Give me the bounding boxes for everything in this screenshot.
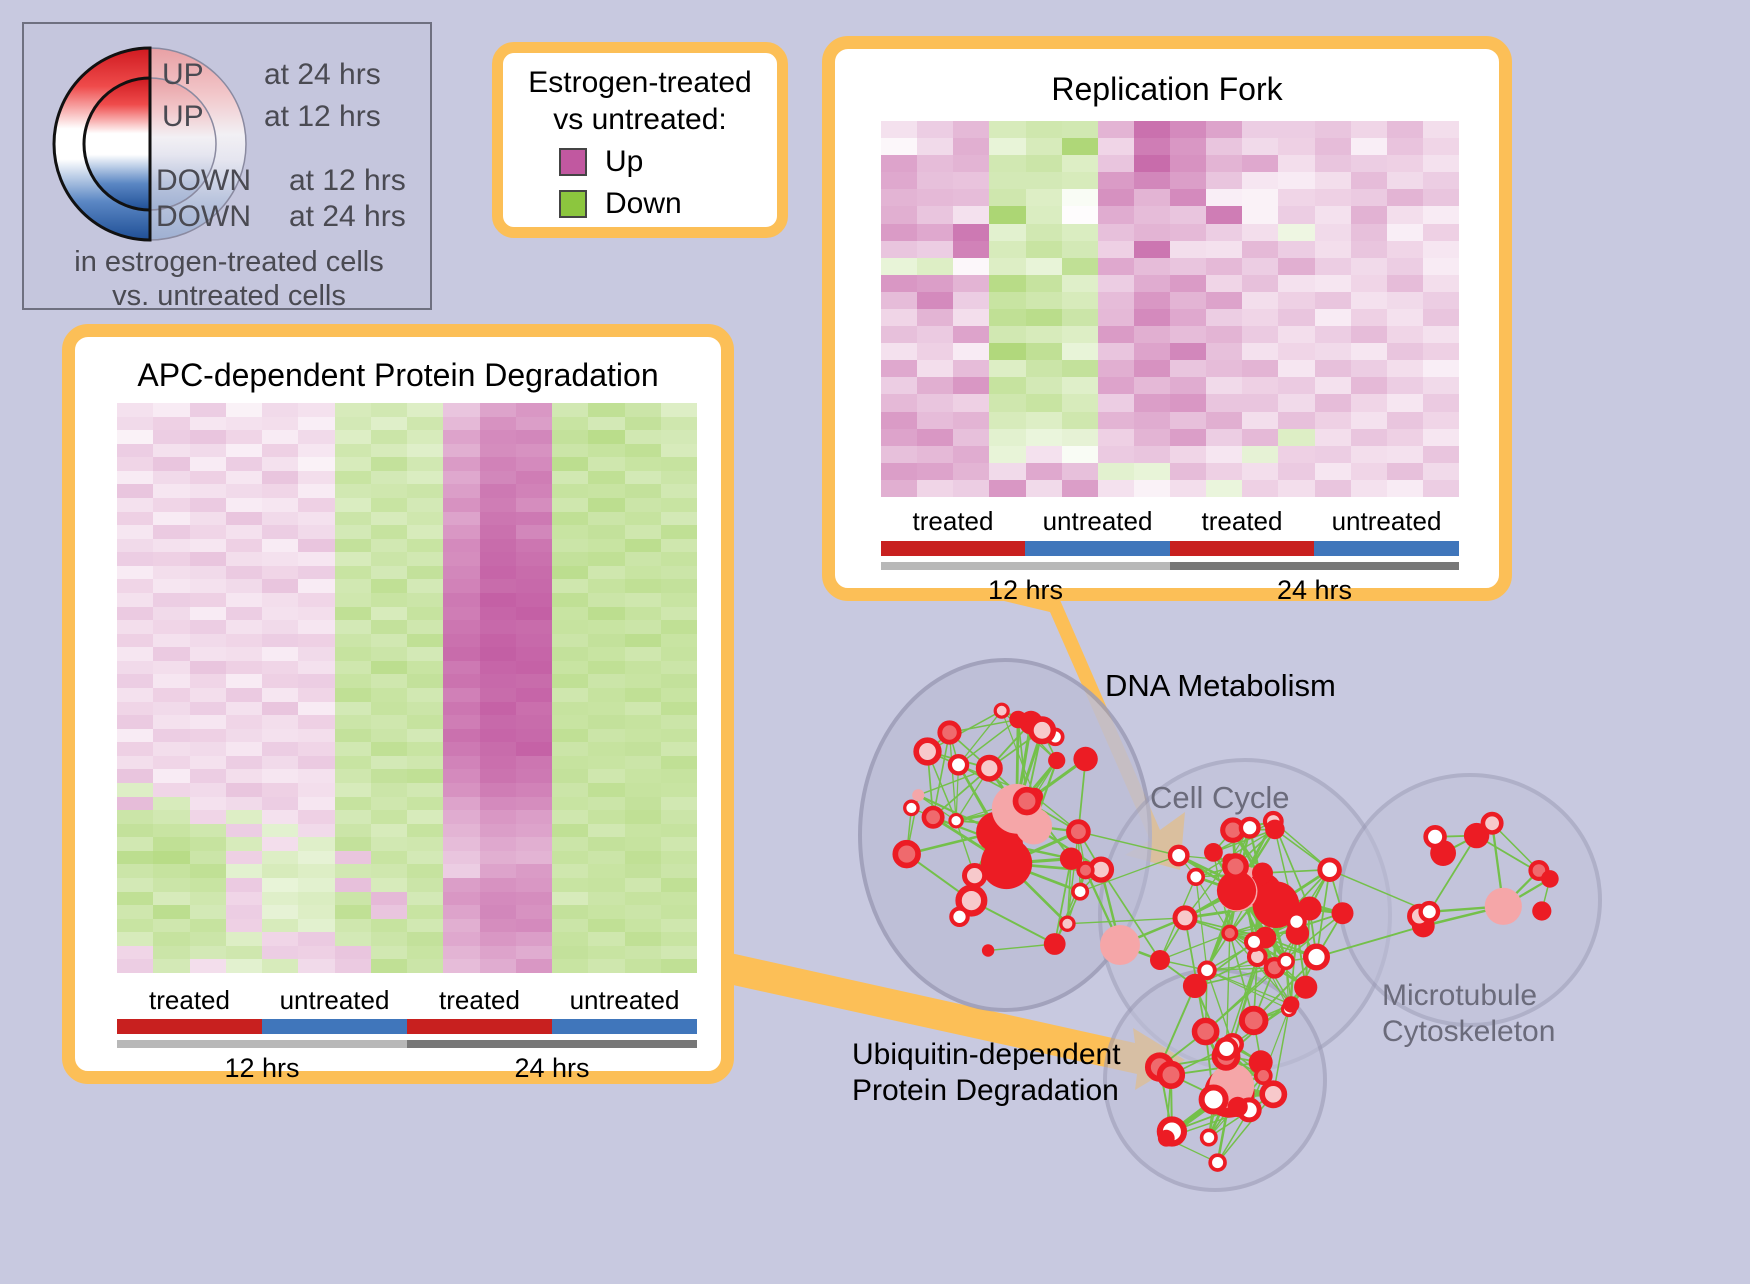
rf-group-bar-3 xyxy=(1314,541,1459,556)
apc-group-bar-1 xyxy=(262,1019,407,1034)
apc-group-bar-2 xyxy=(407,1019,552,1034)
panel-apc-degradation: APC-dependent Protein Degradation treate… xyxy=(62,324,734,1084)
up-color-swatch xyxy=(559,148,587,176)
ring-row-2-time: at 12 hrs xyxy=(289,164,406,198)
rf-group-label-0: treated xyxy=(881,506,1025,537)
rf-group-label-2: treated xyxy=(1170,506,1314,537)
rf-group-bar-0 xyxy=(881,541,1025,556)
ring-row-2-direction: DOWN xyxy=(156,164,251,198)
updown-legend-title-line2: vs untreated: xyxy=(503,102,777,139)
apc-group-label-0: treated xyxy=(117,985,262,1016)
ring-legend-footer-line2: vs. untreated cells xyxy=(24,280,434,313)
apc-timepoint-label-12hrs: 12 hrs xyxy=(117,1053,407,1084)
legend-item-down: Down xyxy=(559,187,682,221)
ring-row-3-direction: DOWN xyxy=(156,200,251,234)
ring-row-1-direction: UP xyxy=(162,100,204,134)
rf-timepoint-label-12hrs: 12 hrs xyxy=(881,575,1170,606)
rf-timepoint-bar-12hrs xyxy=(881,562,1170,570)
ring-row-0-direction: UP xyxy=(162,58,204,92)
rf-group-bar-1 xyxy=(1025,541,1170,556)
ring-row-0-time: at 24 hrs xyxy=(264,58,381,92)
panel-apc-title: APC-dependent Protein Degradation xyxy=(75,357,721,394)
cluster-label-ubiquitin-degradation: Ubiquitin-dependent Protein Degradation xyxy=(852,1037,1121,1109)
cluster-label-microtubule-cytoskeleton: Microtubule Cytoskeleton xyxy=(1382,978,1555,1050)
apc-group-label-2: treated xyxy=(407,985,552,1016)
apc-timepoint-bar-12hrs xyxy=(117,1040,407,1048)
network-svg xyxy=(790,610,1750,1279)
updown-legend-card: Estrogen-treated vs untreated: Up Down xyxy=(492,42,788,238)
cluster-label-dna-metabolism: DNA Metabolism xyxy=(1105,668,1336,704)
ring-row-3-time: at 24 hrs xyxy=(289,200,406,234)
rf-group-label-3: untreated xyxy=(1314,506,1459,537)
figure-canvas: UP at 24 hrs UP at 12 hrs DOWN at 12 hrs… xyxy=(0,0,1750,1279)
pathway-network-diagram: DNA Metabolism Cell Cycle Microtubule Cy… xyxy=(790,610,1750,1279)
heatmap-apc-degradation xyxy=(117,403,697,973)
ring-legend-box: UP at 24 hrs UP at 12 hrs DOWN at 12 hrs… xyxy=(22,22,432,310)
legend-item-up: Up xyxy=(559,145,643,179)
legend-item-down-label: Down xyxy=(605,187,682,221)
updown-legend-title: Estrogen-treated vs untreated: xyxy=(503,65,777,138)
apc-group-label-1: untreated xyxy=(262,985,407,1016)
apc-timepoint-bar-24hrs xyxy=(407,1040,697,1048)
apc-group-bar-0 xyxy=(117,1019,262,1034)
rf-timepoint-bar-24hrs xyxy=(1170,562,1459,570)
apc-group-bar-3 xyxy=(552,1019,697,1034)
apc-group-label-3: untreated xyxy=(552,985,697,1016)
ring-legend-footer-line1: in estrogen-treated cells xyxy=(24,246,434,279)
down-color-swatch xyxy=(559,190,587,218)
cluster-label-cell-cycle: Cell Cycle xyxy=(1150,780,1290,816)
apc-timepoint-label-24hrs: 24 hrs xyxy=(407,1053,697,1084)
rf-timepoint-label-24hrs: 24 hrs xyxy=(1170,575,1459,606)
rf-group-bar-2 xyxy=(1170,541,1314,556)
legend-item-up-label: Up xyxy=(605,145,643,179)
ring-row-1-time: at 12 hrs xyxy=(264,100,381,134)
updown-legend-title-line1: Estrogen-treated xyxy=(503,65,777,102)
rf-group-label-1: untreated xyxy=(1025,506,1170,537)
panel-replication-fork-title: Replication Fork xyxy=(835,71,1499,108)
heatmap-replication-fork xyxy=(881,121,1459,497)
panel-replication-fork: Replication Fork treated untreated treat… xyxy=(822,36,1512,601)
